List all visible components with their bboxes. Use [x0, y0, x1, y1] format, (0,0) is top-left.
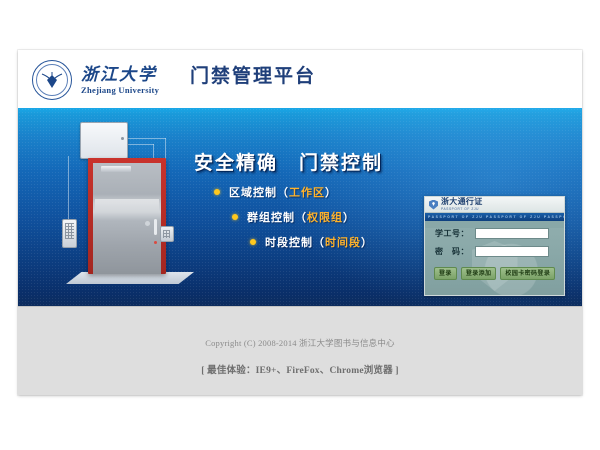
- feature-label: 区域控制（: [229, 184, 289, 200]
- login-panel-subtitle: PASSPORT OF ZJU: [441, 208, 483, 211]
- password-input[interactable]: [475, 246, 549, 257]
- feature-label: 群组控制（: [247, 209, 307, 225]
- access-control-illustration: [44, 114, 204, 304]
- brand-logo[interactable]: 浙江大学 Zhejiang University: [32, 60, 159, 100]
- password-row: 密 码：: [435, 246, 564, 257]
- university-name-en: Zhejiang University: [81, 86, 159, 95]
- login-button[interactable]: 登录: [434, 267, 457, 280]
- content-card: 浙江大学 Zhejiang University 门禁管理平台: [18, 50, 582, 395]
- feature-label: 时段控制（: [265, 234, 325, 250]
- keypad-keys: [65, 223, 74, 239]
- login-panel: 浙大通行证 PASSPORT OF ZJU PASSPORT OF ZJU PA…: [424, 196, 565, 296]
- username-row: 学工号：: [435, 228, 564, 239]
- cable-second-run: [126, 144, 154, 145]
- username-label: 学工号：: [435, 228, 475, 239]
- card-reader-icon: [160, 226, 174, 242]
- university-seal-icon: [32, 60, 72, 100]
- login-marquee-strip: PASSPORT OF ZJU PASSPORT OF ZJU PASSPORT…: [425, 213, 564, 221]
- copyright-text: Copyright (C) 2008-2014 浙江大学图书与信息中心: [18, 337, 582, 349]
- seal-bird-glyph: [40, 71, 64, 91]
- login-panel-title: 浙大通行证: [441, 198, 483, 206]
- hero-headline: 安全精确 门禁控制: [194, 148, 383, 175]
- password-label: 密 码：: [435, 246, 475, 257]
- feature-tail: ）: [325, 184, 337, 200]
- site-footer: Copyright (C) 2008-2014 浙江大学图书与信息中心 [ 最佳…: [18, 306, 582, 395]
- feature-highlight: 权限组: [307, 209, 343, 225]
- door-knob-icon: [145, 221, 150, 226]
- login-button-row: 登录 登录添加 校园卡密码登录: [434, 267, 564, 280]
- login-form: 学工号： 密 码： 登录 登录添加 校园卡密码登录: [425, 228, 564, 296]
- feature-item-time-control: 时段控制（ 时间段 ）: [250, 234, 373, 250]
- door-panel: [93, 163, 161, 274]
- feature-highlight: 时间段: [325, 234, 361, 250]
- brand-names: 浙江大学 Zhejiang University: [81, 66, 159, 95]
- door-handle-icon: [154, 219, 157, 235]
- campus-card-login-button[interactable]: 校园卡密码登录: [500, 267, 555, 280]
- site-header: 浙江大学 Zhejiang University 门禁管理平台: [18, 50, 582, 108]
- controller-box-icon: [80, 122, 128, 159]
- feature-item-area-control: 区域控制（ 工作区 ）: [214, 184, 373, 200]
- login-add-button[interactable]: 登录添加: [461, 267, 497, 280]
- browser-recommendation-text: [ 最佳体验：IE9+、FireFox、Chrome浏览器 ]: [18, 362, 582, 376]
- bullet-icon: [250, 239, 256, 245]
- login-title-block: 浙大通行证 PASSPORT OF ZJU: [441, 198, 483, 211]
- feature-item-group-control: 群组控制（ 权限组 ）: [232, 209, 373, 225]
- door-status-led: [154, 241, 157, 244]
- door-highlight: [95, 199, 159, 211]
- university-name-cn: 浙江大学: [81, 66, 159, 83]
- cable-top-run: [126, 138, 166, 139]
- page-root: 浙江大学 Zhejiang University 门禁管理平台: [0, 0, 600, 450]
- shield-icon: [429, 200, 438, 210]
- feature-tail: ）: [361, 234, 373, 250]
- login-panel-titlebar: 浙大通行证 PASSPORT OF ZJU: [425, 197, 564, 213]
- feature-tail: ）: [343, 209, 355, 225]
- username-input[interactable]: [475, 228, 549, 239]
- hero-feature-list: 区域控制（ 工作区 ） 群组控制（ 权限组 ） 时段控制（ 时间段 ）: [214, 184, 373, 259]
- feature-highlight: 工作区: [289, 184, 325, 200]
- bullet-icon: [214, 189, 220, 195]
- keypad-reader-icon: [62, 219, 77, 248]
- bullet-icon: [232, 214, 238, 220]
- door-closer-icon: [101, 166, 131, 172]
- door-frame: [88, 158, 166, 274]
- hero-banner: 安全精确 门禁控制 区域控制（ 工作区 ） 群组控制（ 权限组 ） 时段控制（: [18, 108, 582, 306]
- platform-title: 门禁管理平台: [190, 67, 316, 86]
